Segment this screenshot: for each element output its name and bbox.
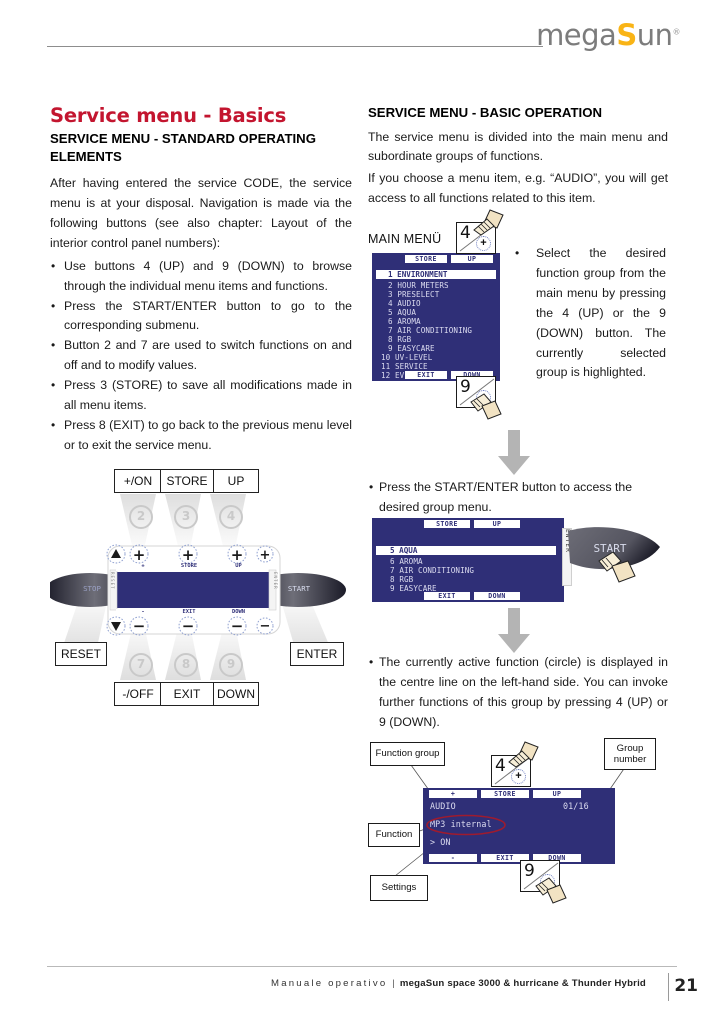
lcd1-up-bar: UP <box>451 255 493 263</box>
lcd3-up-bar: UP <box>533 790 581 798</box>
panel-number-7: 7 <box>129 653 153 677</box>
bullet-active-block: The currently active function (circle) i… <box>368 653 668 733</box>
main-menu-caption: MAIN MENÜ <box>368 232 441 246</box>
panel-key-label-down: DOWN <box>216 609 261 615</box>
panel-side-reset-text: RESET <box>106 572 115 590</box>
lcd3-setting: > ON <box>430 838 451 847</box>
hand-pointer-icon <box>468 392 502 422</box>
right-column: SERVICE MENU - BASIC OPERATION The servi… <box>368 104 668 211</box>
right-subtitle: SERVICE MENU - BASIC OPERATION <box>368 104 668 122</box>
left-intro-paragraph: After having entered the service CODE, t… <box>50 174 352 254</box>
lcd1-store-bar: STORE <box>405 255 447 263</box>
list-item: Press 8 (EXIT) to go back to the previou… <box>50 416 352 456</box>
lcd-main-menu: STORE UP 1 ENVIRONMENT 2 HOUR METERS 3 P… <box>372 253 500 381</box>
list-item: Use buttons 4 (UP) and 9 (DOWN) to brows… <box>50 257 352 297</box>
panel-key-label-store: STORE <box>166 563 212 569</box>
bullet-start-list: Press the START/ENTER button to access t… <box>368 478 668 518</box>
svg-text:+: + <box>231 546 244 564</box>
list-item: Select the desired function group from t… <box>514 244 666 383</box>
left-bullet-list: Use buttons 4 (UP) and 9 (DOWN) to brows… <box>50 257 352 456</box>
left-column: Service menu - Basics SERVICE MENU - STA… <box>50 104 352 456</box>
lcd-group-menu: STORE UP 5 AQUA 6 AROMA 7 AIR CONDITIONI… <box>372 518 564 602</box>
label-plus-on: +/ON <box>114 469 162 493</box>
lcd2-store-bar: STORE <box>424 520 470 528</box>
svg-text:−: − <box>260 619 271 634</box>
panel-key-label-exit: EXIT <box>166 609 212 615</box>
footer-product: megaSun space 3000 & hurricane & Thunder… <box>400 978 646 989</box>
lcd1-item: 9 EASYCARE <box>388 344 435 353</box>
lcd3-plus-bar: + <box>429 790 477 798</box>
footer-divider <box>668 973 669 1001</box>
list-item: Press the START/ENTER button to access t… <box>368 478 668 518</box>
label-down: DOWN <box>213 682 259 706</box>
bullet-start-block: Press the START/ENTER button to access t… <box>368 478 668 518</box>
lcd3-store-bar: STORE <box>481 790 529 798</box>
bullet-select-list: Select the desired function group from t… <box>514 244 666 383</box>
svg-text:−: − <box>182 617 195 635</box>
lcd2-item-selected: 5 AQUA <box>376 546 556 555</box>
panel-number-8: 8 <box>174 653 198 677</box>
svg-text:+: + <box>260 548 271 563</box>
lcd1-item: 4 AUDIO <box>388 299 421 308</box>
panel-key-label-up: UP <box>216 563 261 569</box>
page: megaSun® Service menu - Basics SERVICE M… <box>0 0 724 1024</box>
megasun-logo: megaSun® <box>536 21 680 50</box>
footer-separator: | <box>392 978 395 989</box>
key-plus-icon: + <box>511 769 526 784</box>
logo-s: S <box>616 18 636 52</box>
right-intro-2: If you choose a menu item, e.g. “AUDIO”,… <box>368 169 668 209</box>
list-item: Press the START/ENTER button to go to th… <box>50 297 352 337</box>
page-title: Service menu - Basics <box>50 104 352 127</box>
svg-text:−: − <box>231 617 244 635</box>
hand-pointer-icon <box>470 208 504 238</box>
panel-key-label-plus: + <box>122 563 164 569</box>
callout-function: Function <box>368 823 420 847</box>
page-footer: Manuale operativo|megaSun space 3000 & h… <box>0 958 724 1024</box>
logo-un: un <box>637 18 673 52</box>
label-exit: EXIT <box>160 682 214 706</box>
footer-manual: Manuale operativo <box>271 978 387 989</box>
lcd1-item: 8 RGB <box>388 335 411 344</box>
logo-registered-icon: ® <box>673 27 681 36</box>
lcd2-item: 7 AIR CONDITIONING <box>390 566 474 575</box>
key-plus-icon: + <box>476 236 491 251</box>
lcd1-exit-bar: EXIT <box>405 371 447 379</box>
hand-pointer-icon <box>595 549 637 589</box>
svg-text:−: − <box>133 617 146 635</box>
left-subtitle: SERVICE MENU - STANDARD OPERATING ELEMEN… <box>50 130 352 165</box>
control-panel-diagram: ++ ++ −− −− + STORE UP - EXIT DOWN STOP <box>50 462 352 714</box>
panel-number-3: 3 <box>174 505 198 529</box>
callout-settings: Settings <box>370 875 428 901</box>
hand-pointer-icon <box>533 876 567 906</box>
lcd1-item: 3 PRESELECT <box>388 290 439 299</box>
panel-key-label-minus: - <box>122 609 164 615</box>
footer-text: Manuale operativo|megaSun space 3000 & h… <box>271 978 646 989</box>
list-item: Press 3 (STORE) to save all modification… <box>50 376 352 416</box>
label-reset: RESET <box>55 642 107 666</box>
list-item: Button 2 and 7 are used to switch functi… <box>50 336 352 376</box>
lcd2-down-bar: DOWN <box>474 592 520 600</box>
panel-number-4: 4 <box>219 505 243 529</box>
panel-side-enter-text: ENTER <box>269 572 278 590</box>
footer-rule <box>47 966 677 967</box>
label-store: STORE <box>160 469 214 493</box>
panel-number-9: 9 <box>219 653 243 677</box>
lcd1-item: 5 AQUA <box>388 308 416 317</box>
header-rule <box>47 46 543 47</box>
logo-mega: mega <box>536 18 616 52</box>
bullet-select-block: Select the desired function group from t… <box>514 244 666 383</box>
page-number: 21 <box>674 976 698 996</box>
callout-group-number: Group number <box>604 738 656 770</box>
label-minus-off: -/OFF <box>114 682 162 706</box>
lcd2-item: 6 AROMA <box>390 557 423 566</box>
lcd2-exit-bar: EXIT <box>424 592 470 600</box>
lcd-audio: + STORE UP AUDIO 01/16 MP3 internal > ON… <box>423 788 615 864</box>
list-item: The currently active function (circle) i… <box>368 653 668 733</box>
svg-text:+: + <box>182 546 195 564</box>
callout-function-group: Function group <box>370 742 445 766</box>
lcd1-item: 11 SERVICE <box>381 362 428 371</box>
lcd1-item: 7 AIR CONDITIONING <box>388 326 472 335</box>
lcd2-item: 8 RGB <box>390 575 413 584</box>
lcd3-group-name: AUDIO <box>430 802 456 811</box>
lcd3-minus-bar: - <box>429 854 477 862</box>
lcd1-item: 6 AROMA <box>388 317 421 326</box>
bullet-active-list: The currently active function (circle) i… <box>368 653 668 733</box>
label-up: UP <box>213 469 259 493</box>
down-arrow-icon <box>497 430 531 476</box>
lcd3-group-number: 01/16 <box>563 802 589 811</box>
highlight-ellipse-icon <box>425 814 507 836</box>
label-enter: ENTER <box>290 642 344 666</box>
lcd2-up-bar: UP <box>474 520 520 528</box>
panel-start-text: START <box>276 584 322 593</box>
lcd1-item: 10 UV-LEVEL <box>381 353 432 362</box>
svg-text:+: + <box>133 546 146 564</box>
down-arrow-icon <box>497 608 531 654</box>
hand-pointer-icon <box>505 740 539 770</box>
right-intro-1: The service menu is divided into the mai… <box>368 128 668 168</box>
lcd1-item: 2 HOUR METERS <box>388 281 449 290</box>
lcd1-item-selected: 1 ENVIRONMENT <box>376 270 496 279</box>
page-header: megaSun® <box>0 0 724 70</box>
panel-number-2: 2 <box>129 505 153 529</box>
